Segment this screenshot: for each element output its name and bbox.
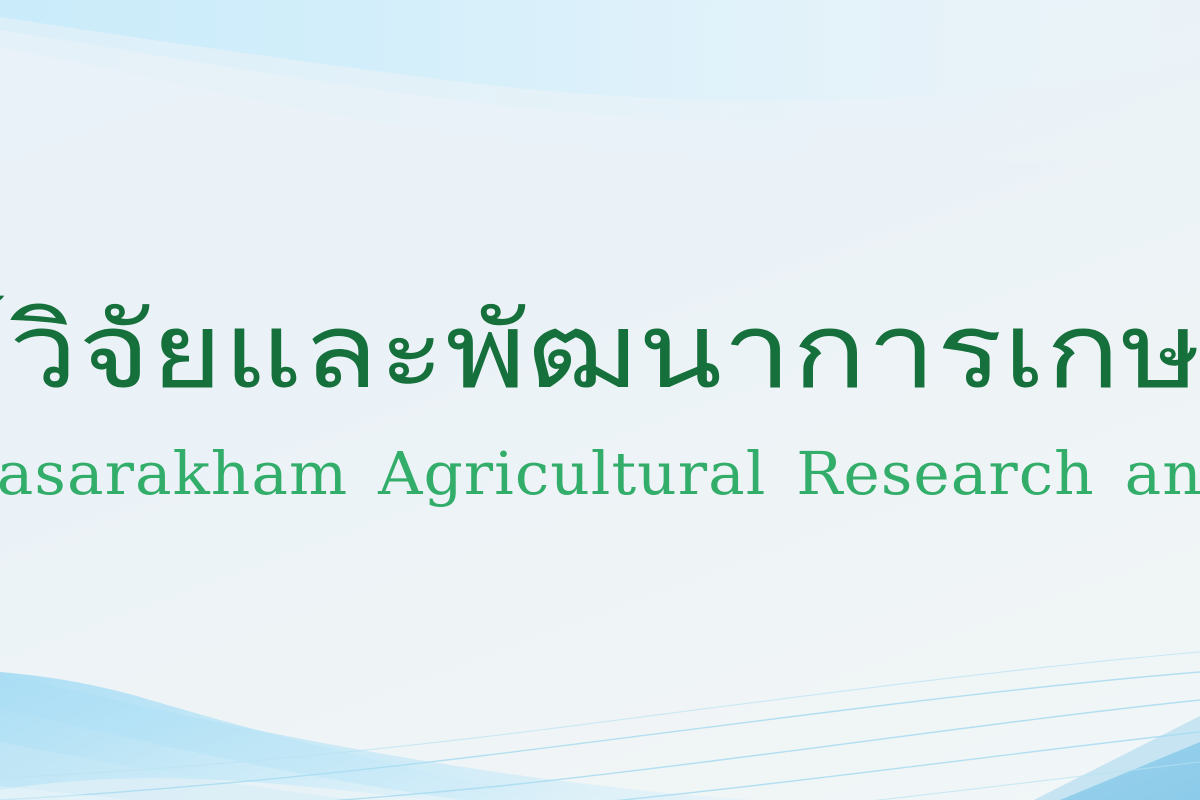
title-banner: นย์วิจัยและพัฒนาการเกษตร hasarakham Agri… xyxy=(0,0,1200,800)
thai-organization-title: นย์วิจัยและพัฒนาการเกษตร xyxy=(0,290,1200,413)
english-organization-title: hasarakham Agricultural Research and xyxy=(0,439,1200,510)
banner-text-block: นย์วิจัยและพัฒนาการเกษตร hasarakham Agri… xyxy=(0,0,1200,800)
